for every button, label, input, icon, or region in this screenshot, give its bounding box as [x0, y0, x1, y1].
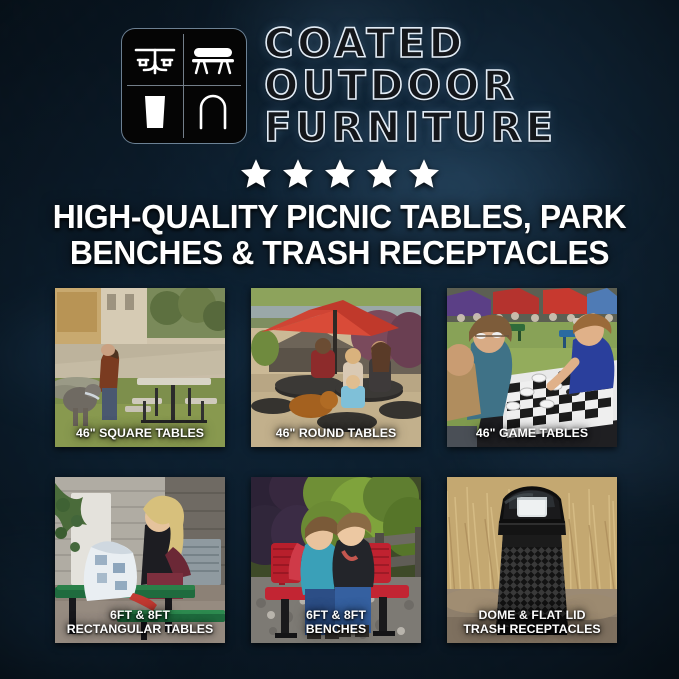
- brand-logo: COATED OUTDOOR FURNITURE: [0, 24, 679, 148]
- product-caption-square-tables: 46" SQUARE TABLES: [55, 427, 225, 441]
- product-grid: 46" SQUARE TABLES: [55, 288, 617, 643]
- logo-word-outdoor: OUTDOOR: [264, 66, 518, 107]
- headline-line-2: BENCHES & TRASH RECEPTACLES: [39, 235, 640, 271]
- logo-icon-grid: [122, 29, 246, 143]
- logo-word-coated: COATED: [264, 24, 466, 65]
- product-tile-benches[interactable]: 6FT & 8FT BENCHES: [251, 477, 421, 643]
- star-icon: [323, 157, 357, 191]
- product-tile-square-tables[interactable]: 46" SQUARE TABLES: [55, 288, 225, 447]
- caption-line-1: 46" GAME TABLES: [450, 427, 614, 441]
- star-icon: [407, 157, 441, 191]
- trash-receptacle-icon: [127, 86, 184, 138]
- headline-line-1: HIGH-QUALITY PICNIC TABLES, PARK: [39, 199, 640, 235]
- product-tile-trash-receptacles[interactable]: DOME & FLAT LID TRASH RECEPTACLES: [447, 477, 617, 643]
- product-banner: COATED OUTDOOR FURNITURE HIGH-QUALITY PI…: [0, 0, 679, 679]
- product-caption-game-tables: 46" GAME TABLES: [447, 427, 617, 441]
- product-tile-game-tables[interactable]: 46" GAME TABLES: [447, 288, 617, 447]
- product-photo-square-tables: [55, 288, 225, 447]
- picnic-table-icon: [127, 34, 184, 86]
- bike-rack-arch-icon: [184, 86, 241, 138]
- park-bench-icon: [184, 34, 241, 86]
- star-icon: [239, 157, 273, 191]
- product-tile-rectangular-tables[interactable]: 6FT & 8FT RECTANGULAR TABLES: [55, 477, 225, 643]
- star-icon: [365, 157, 399, 191]
- caption-line-2: RECTANGULAR TABLES: [58, 623, 222, 637]
- product-photo-round-tables: [251, 288, 421, 447]
- caption-line-1: 46" ROUND TABLES: [254, 427, 418, 441]
- caption-line-1: 46" SQUARE TABLES: [58, 427, 222, 441]
- caption-line-2: BENCHES: [254, 623, 418, 637]
- product-caption-trash-receptacles: DOME & FLAT LID TRASH RECEPTACLES: [447, 609, 617, 637]
- product-tile-round-tables[interactable]: 46" ROUND TABLES: [251, 288, 421, 447]
- product-caption-rectangular-tables: 6FT & 8FT RECTANGULAR TABLES: [55, 609, 225, 637]
- star-icon: [281, 157, 315, 191]
- headline: HIGH-QUALITY PICNIC TABLES, PARK BENCHES…: [39, 199, 640, 272]
- logo-word-furniture: FURNITURE: [264, 108, 557, 149]
- product-photo-game-tables: [447, 288, 617, 447]
- star-rating: [0, 157, 679, 191]
- product-caption-round-tables: 46" ROUND TABLES: [251, 427, 421, 441]
- logo-wordmark: COATED OUTDOOR FURNITURE: [264, 24, 557, 148]
- caption-line-2: TRASH RECEPTACLES: [450, 623, 614, 637]
- product-caption-benches: 6FT & 8FT BENCHES: [251, 609, 421, 637]
